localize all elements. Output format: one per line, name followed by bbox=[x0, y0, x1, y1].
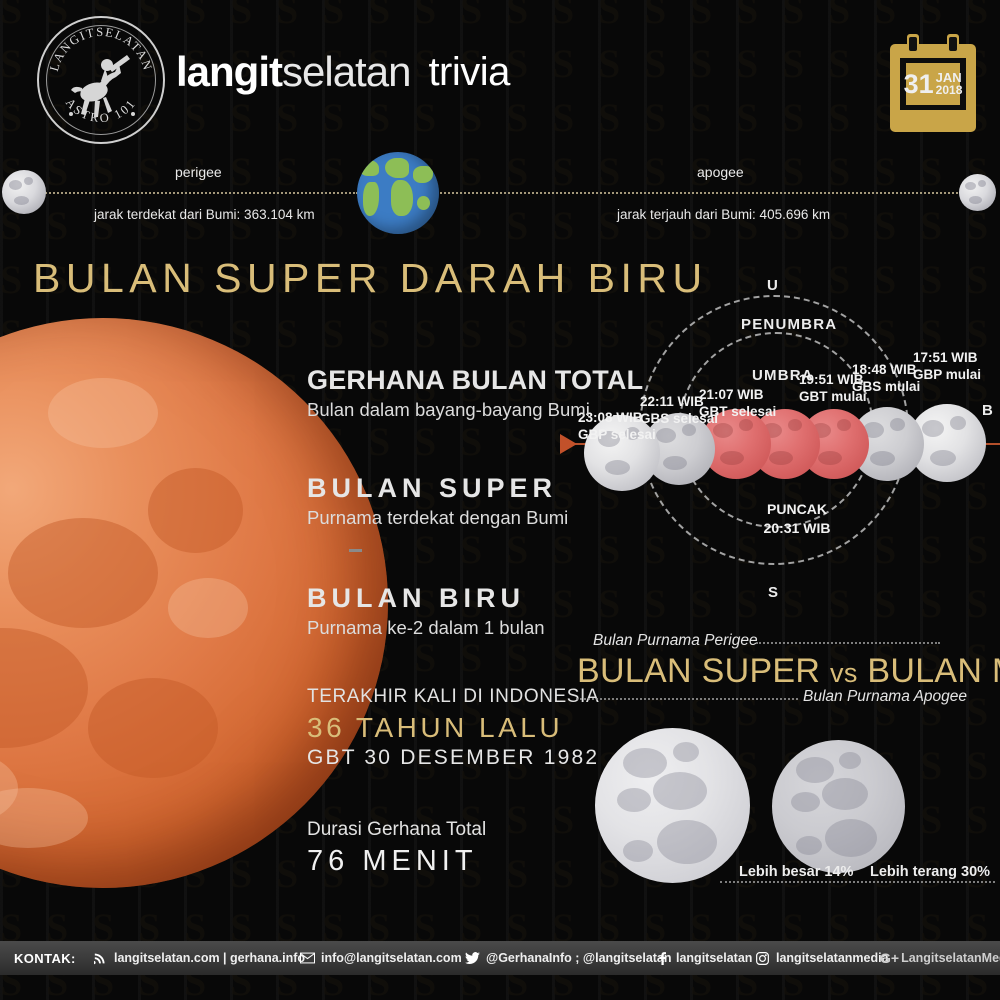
svg-text:ASTRO 101: ASTRO 101 bbox=[63, 96, 139, 126]
duration-label: Durasi Gerhana Total bbox=[307, 819, 486, 841]
compare-title-right: BULAN MINI bbox=[867, 652, 1000, 690]
perigee-moon-icon bbox=[2, 170, 46, 214]
perigee-value: jarak terdekat dari Bumi: 363.104 km bbox=[94, 207, 315, 222]
page-title: BULAN SUPER DARAH BIRU bbox=[33, 255, 708, 302]
last-eclipse-highlight: 36 TAHUN LALU bbox=[307, 712, 599, 744]
contact-footer-bar: KONTAK: langitselatan.com | gerhana.info… bbox=[0, 941, 1000, 975]
brand-bold: langit bbox=[176, 48, 282, 96]
fact-bulan-super: BULAN SUPER Purnama terdekat dengan Bumi bbox=[307, 473, 568, 529]
phase-label-gbs-mulai: 18:48 WIB GBS mulai bbox=[852, 361, 920, 395]
footer-link-text: @GerhanaInfo ; @langitselatan bbox=[486, 951, 672, 965]
footer-email-link[interactable]: info@langitselatan.com bbox=[300, 951, 462, 965]
compare-title-vs: vs bbox=[830, 658, 858, 688]
compare-caption-left: Lebih besar 14% bbox=[739, 864, 853, 880]
brand-title: langitselatan trivia bbox=[176, 42, 510, 102]
footer-twitter-link[interactable]: @GerhanaInfo ; @langitselatan bbox=[465, 951, 672, 965]
googleplus-icon: G+ bbox=[880, 951, 899, 965]
minimoon-disc bbox=[772, 740, 905, 873]
eclipse-path-diagram: U S T B PENUMBRA UMBRA bbox=[560, 268, 1000, 613]
path-arrow-icon bbox=[560, 434, 577, 454]
infographic-page: SSSSSSSSSSSSSSSSSSSSSSSSSSSSSSSSSSSSSSSS… bbox=[0, 0, 1000, 1000]
compare-caption-right: Lebih terang 30% bbox=[870, 864, 990, 880]
fact-title: BULAN BIRU bbox=[307, 583, 545, 614]
duration-block: Durasi Gerhana Total 76 MENIT bbox=[307, 819, 486, 878]
logo-centaur-icon: LANGITSELATAN ASTRO 101 bbox=[37, 16, 165, 144]
last-eclipse-detail: GBT 30 DESEMBER 1982 bbox=[307, 746, 599, 770]
fact-subtitle: Purnama terdekat dengan Bumi bbox=[307, 507, 568, 529]
compare-bottom-dashline bbox=[576, 698, 798, 700]
fact-title: GERHANA BULAN TOTAL bbox=[307, 365, 643, 396]
compass-south: S bbox=[768, 584, 778, 601]
envelope-icon bbox=[300, 951, 315, 965]
last-eclipse-label: TERAKHIR KALI DI INDONESIA bbox=[307, 686, 599, 708]
perigee-apogee-row: perigee jarak terdekat dari Bumi: 363.10… bbox=[0, 150, 1000, 250]
footer-website-link[interactable]: langitselatan.com | gerhana.info bbox=[93, 951, 305, 965]
last-eclipse-block: TERAKHIR KALI DI INDONESIA 36 TAHUN LALU… bbox=[307, 686, 599, 770]
footer-instagram-link[interactable]: langitselatanmedia bbox=[755, 951, 889, 965]
compare-caption-dashline bbox=[720, 881, 995, 883]
penumbra-label: PENUMBRA bbox=[741, 316, 837, 333]
apogee-value: jarak terjauh dari Bumi: 405.696 km bbox=[617, 207, 830, 222]
footer-link-text: langitselatanmedia bbox=[776, 951, 889, 965]
fact-title: BULAN SUPER bbox=[307, 473, 568, 504]
fact-subtitle: Purnama ke-2 dalam 1 bulan bbox=[307, 617, 545, 639]
divider-dash bbox=[349, 549, 362, 552]
calendar-year: 2018 bbox=[936, 84, 963, 97]
footer-link-text: info@langitselatan.com bbox=[321, 951, 462, 965]
compare-title: BULAN SUPER vs BULAN MINI bbox=[577, 652, 1000, 691]
phase-label-gbp-mulai: 17:51 WIB GBP mulai bbox=[913, 349, 981, 383]
footer-link-text: LangitselatanMedia bbox=[901, 951, 1000, 965]
svg-text:LANGITSELATAN: LANGITSELATAN bbox=[47, 25, 155, 73]
calendar-day: 31 bbox=[904, 71, 934, 98]
apogee-label: apogee bbox=[697, 164, 744, 180]
apogee-moon-icon bbox=[959, 174, 996, 211]
compare-top-dashline bbox=[756, 642, 940, 644]
supermoon-vs-minimoon-section: Bulan Purnama Perigee BULAN SUPER vs BUL… bbox=[560, 632, 1000, 892]
perigee-label: perigee bbox=[175, 164, 222, 180]
fact-subtitle: Bulan dalam bayang-bayang Bumi bbox=[307, 399, 643, 421]
brand-suffix: trivia bbox=[428, 50, 509, 95]
brand-light: selatan bbox=[282, 48, 410, 96]
compass-east: B bbox=[982, 402, 993, 419]
footer-link-text: langitselatan.com | gerhana.info bbox=[114, 951, 305, 965]
supermoon-disc bbox=[595, 728, 750, 883]
footer-link-text: langitselatan bbox=[676, 951, 752, 965]
calendar-date-icon: 31 JAN 2018 bbox=[890, 34, 976, 132]
footer-facebook-link[interactable]: langitselatan bbox=[655, 951, 752, 965]
compare-bottom-caption: Bulan Purnama Apogee bbox=[803, 688, 967, 706]
compare-title-left: BULAN SUPER bbox=[577, 652, 820, 690]
instagram-icon bbox=[755, 951, 770, 965]
compare-top-caption: Bulan Purnama Perigee bbox=[593, 632, 758, 650]
duration-value: 76 MENIT bbox=[307, 845, 486, 878]
peak-label: PUNCAK 20:31 WIB bbox=[742, 500, 852, 538]
facebook-icon bbox=[655, 951, 670, 965]
kontak-label: KONTAK: bbox=[14, 951, 76, 966]
compass-north: U bbox=[767, 277, 778, 294]
twitter-icon bbox=[465, 951, 480, 965]
rss-icon bbox=[93, 951, 108, 965]
header: LANGITSELATAN ASTRO 101 bbox=[0, 0, 1000, 148]
fact-bulan-biru: BULAN BIRU Purnama ke-2 dalam 1 bulan bbox=[307, 583, 545, 639]
earth-globe-icon bbox=[357, 152, 439, 234]
footer-googleplus-link[interactable]: G+ LangitselatanMedia bbox=[880, 951, 1000, 965]
phase-label-gbt-selesai: 21:07 WIB GBT selesai bbox=[699, 386, 776, 420]
fact-gerhana-bulan-total: GERHANA BULAN TOTAL Bulan dalam bayang-b… bbox=[307, 365, 643, 421]
langitselatan-logo: LANGITSELATAN ASTRO 101 bbox=[37, 16, 165, 144]
